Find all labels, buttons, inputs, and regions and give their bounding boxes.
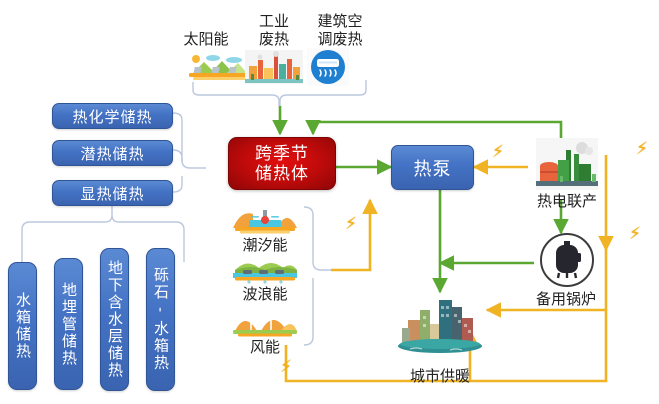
source-label-hvac-waste-heat-line2: 调废热 [305,28,375,49]
lightning-bolt-icon: ⚡ [345,215,357,232]
storage-method-borehole[interactable]: 地埋管储热 [54,258,83,390]
city-skyline-icon [392,294,488,361]
storage-body-line1: 跨季节 [255,144,309,163]
boiler-icon [537,231,597,294]
power-plant-icon [536,138,598,195]
storage-body-line2: 储热体 [255,164,309,183]
chp-label: 热电联产 [521,190,613,211]
heat-flow-lines [280,106,561,292]
city-heating-label: 城市供暖 [380,365,500,386]
air-conditioner-icon [307,48,349,91]
storage-method-water-tank[interactable]: 水箱储热 [8,262,37,390]
storage-method-gravel-water[interactable]: 砾石 - 水箱热 [146,248,175,391]
lightning-bolt-icon: ⚡ [629,225,641,242]
source-label-industrial-waste-heat-line2: 废热 [248,28,300,49]
storage-type-sensible[interactable]: 显热储热 [52,180,173,206]
seasonal-thermal-storage-body[interactable]: 跨季节 储热体 [228,137,336,190]
storage-method-label: 地下含水层储热 [104,260,125,379]
storage-method-label: 地埋管储热 [58,282,79,367]
storage-type-thermochemical[interactable]: 热化学储热 [52,103,173,129]
renewable-label-tidal: 潮汐能 [231,234,299,255]
storage-type-latent[interactable]: 潜热储热 [52,140,173,166]
heat-pump-label: 热泵 [414,155,452,181]
renewable-label-wind: 风能 [231,336,299,357]
renewable-label-wave: 波浪能 [231,283,299,304]
storage-type-label: 热化学储热 [72,106,152,127]
factory-icon [245,50,303,89]
storage-method-label: 水箱储热 [12,292,33,360]
storage-type-label: 显热储热 [80,183,144,204]
lightning-bolt-icon: ⚡ [636,140,648,157]
boiler-label: 备用锅炉 [518,288,614,309]
solar-panel-icon [186,52,254,87]
lightning-bolt-icon: ⚡ [492,143,504,160]
storage-method-aquifer[interactable]: 地下含水层储热 [100,248,129,391]
storage-type-label: 潜热储热 [80,143,144,164]
lightning-bolt-icon: ⚡ [280,358,292,375]
source-label-solar: 太阳能 [170,28,242,49]
storage-method-label: 砾石 - 水箱热 [150,267,171,371]
heat-pump[interactable]: 热泵 [391,145,474,190]
